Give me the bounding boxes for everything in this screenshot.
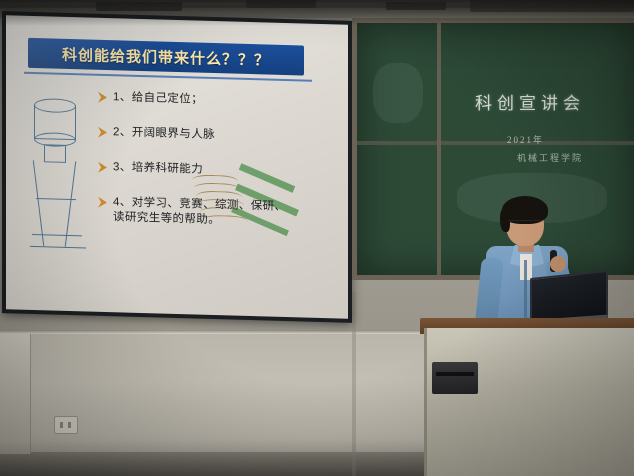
list-item: 1、给自己定位； bbox=[98, 90, 298, 111]
podium: 教 bbox=[424, 328, 634, 476]
wall-outlet bbox=[54, 416, 78, 434]
wall-column bbox=[0, 334, 31, 454]
podium-control-box[interactable] bbox=[432, 362, 478, 394]
blackboard-title: 科创宣讲会 bbox=[475, 89, 585, 114]
ceiling-beam bbox=[470, 0, 634, 12]
blackboard-subline-2: 机械工程学院 bbox=[517, 151, 583, 164]
bullet-arrow-icon bbox=[98, 162, 107, 173]
floor-shadow bbox=[0, 440, 424, 476]
slide-surface: 科创能给我们带来什么？？？ bbox=[6, 15, 348, 319]
bullet-arrow-icon bbox=[98, 127, 107, 138]
list-item: 4、对学习、竞赛、综测、保研、读研究生等的帮助。 bbox=[98, 195, 298, 231]
projection-screen: 科创能给我们带来什么？？？ bbox=[2, 11, 352, 323]
podium-control-slot bbox=[436, 372, 474, 376]
list-item: 2、开阔眼界与人脉 bbox=[98, 125, 298, 146]
slide-bullet-list: 1、给自己定位； 2、开阔眼界与人脉 3、培养科研能力 4、对学习、竞赛、综测、… bbox=[98, 90, 298, 251]
ceiling-light-right bbox=[386, 2, 446, 10]
presenter-right-hand bbox=[550, 256, 566, 272]
classroom-photo: 科创能给我们带来什么？？？ bbox=[0, 0, 634, 476]
blackboard-divider bbox=[437, 23, 441, 275]
glasses-icon bbox=[508, 220, 542, 229]
blackboard-divider-h bbox=[357, 141, 634, 145]
ceiling-light-left bbox=[96, 2, 182, 11]
machine-diagram-icon bbox=[26, 94, 96, 276]
slide-title-bar: 科创能给我们带来什么？？？ bbox=[28, 38, 304, 76]
list-item: 3、培养科研能力 bbox=[98, 160, 298, 181]
blackboard-subline-1: 2021年 bbox=[507, 133, 544, 146]
ceiling-light-mid bbox=[246, 0, 316, 8]
chalk-smudge bbox=[373, 63, 423, 123]
bullet-arrow-icon bbox=[98, 197, 107, 208]
bullet-arrow-icon bbox=[98, 92, 107, 103]
slide-title: 科创能给我们带来什么？？？ bbox=[62, 43, 270, 70]
